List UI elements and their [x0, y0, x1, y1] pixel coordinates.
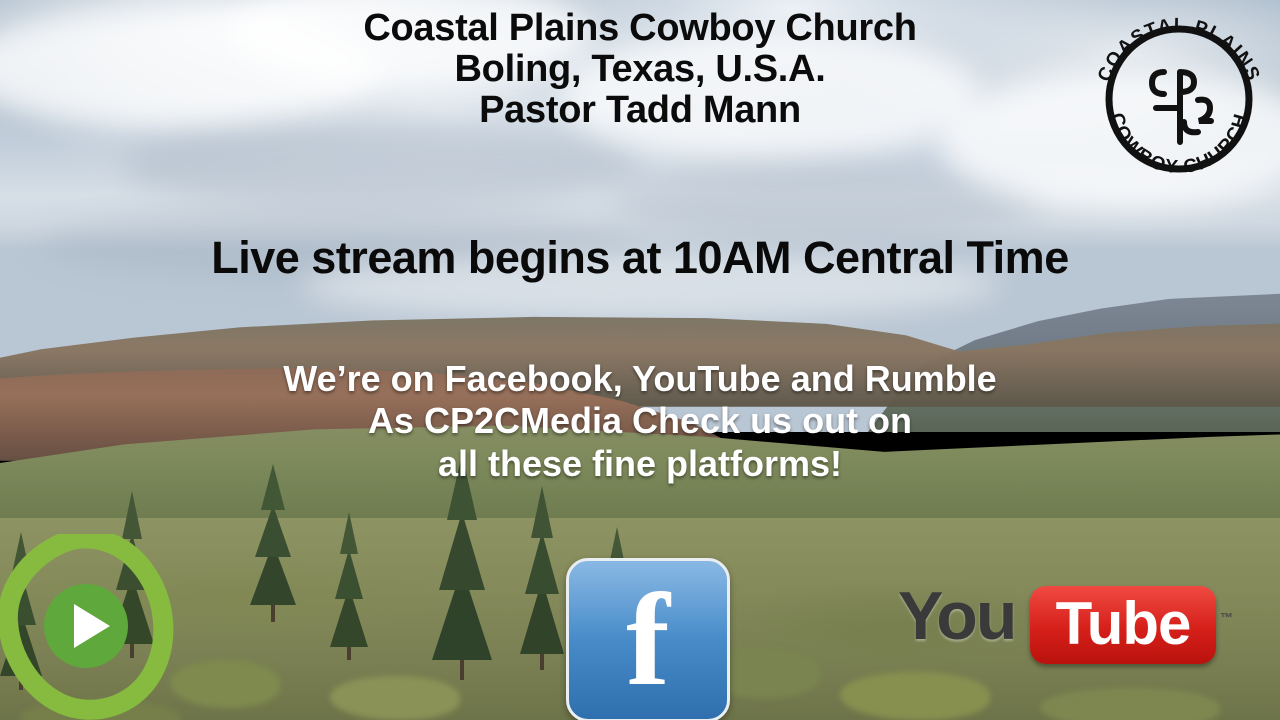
promo-line-handle: As CP2CMedia Check us out on	[0, 400, 1280, 442]
promo-line-closing: all these fine platforms!	[0, 443, 1280, 485]
conifer-tree	[520, 470, 564, 670]
stream-title-card: Coastal Plains Cowboy Church Boling, Tex…	[0, 0, 1280, 720]
promo-line-platforms: We’re on Facebook, YouTube and Rumble	[0, 358, 1280, 400]
facebook-tile: f	[566, 558, 730, 720]
youtube-you-text: You	[898, 582, 1015, 650]
cloud-shape	[120, 120, 640, 210]
facebook-letter: f	[569, 574, 727, 706]
promo-block: We’re on Facebook, YouTube and Rumble As…	[0, 358, 1280, 485]
livestream-headline: Live stream begins at 10AM Central Time	[0, 232, 1280, 284]
facebook-logo-icon[interactable]: f	[566, 558, 724, 716]
rumble-logo-icon[interactable]	[0, 534, 190, 720]
youtube-logo-icon[interactable]: You Tube ™	[898, 580, 1250, 672]
youtube-trademark: ™	[1220, 610, 1233, 625]
coastal-plains-cowboy-church-logo-icon: COASTAL PLAINS COWBOY CHURCH	[1086, 4, 1272, 190]
shrub	[330, 676, 460, 720]
shrub	[1040, 688, 1220, 720]
conifer-tree	[330, 500, 368, 660]
youtube-tube-text: Tube	[1030, 586, 1216, 664]
youtube-tube-badge: Tube	[1030, 586, 1216, 664]
